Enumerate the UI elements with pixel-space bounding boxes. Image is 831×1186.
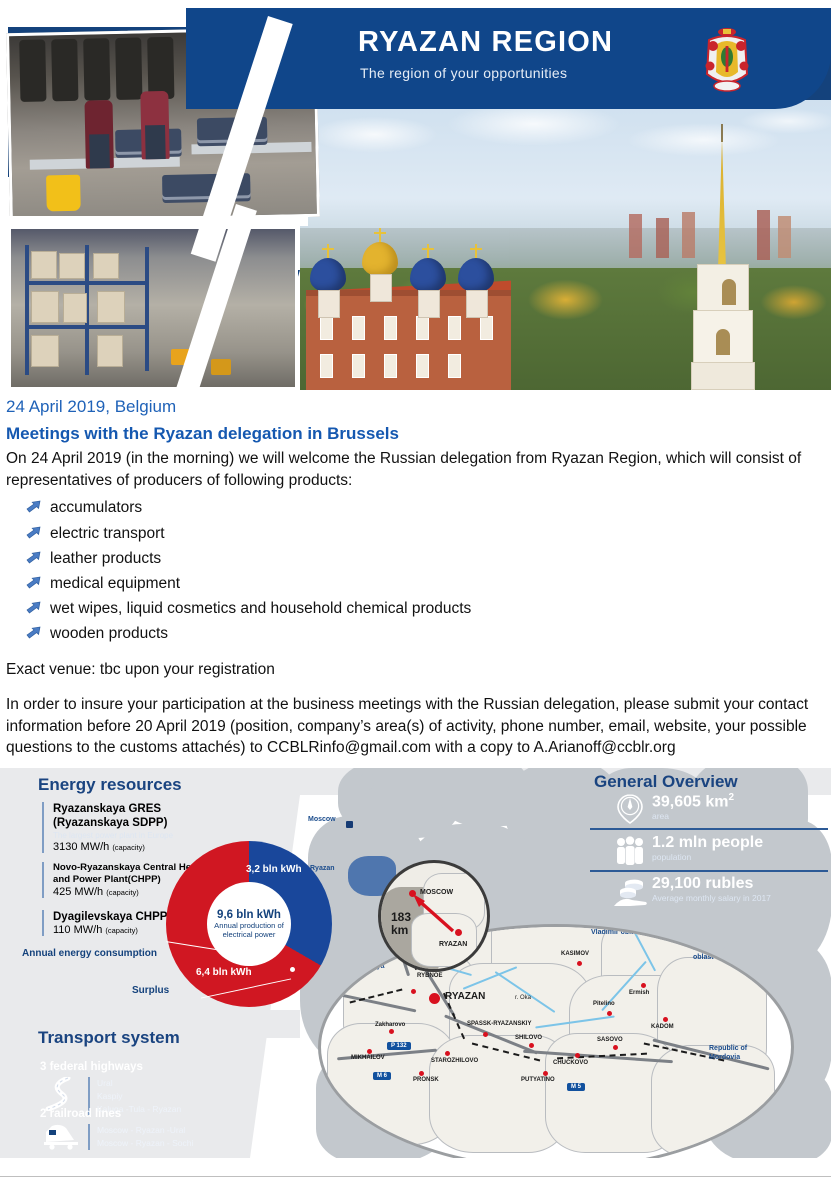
highway-1: Ural	[97, 1077, 181, 1090]
map-city-ermish: Ermish	[629, 990, 649, 996]
banner-title: RYAZAN REGION	[358, 26, 613, 59]
overview-area-sup: 2	[729, 792, 735, 803]
coat-of-arms-icon	[697, 24, 757, 96]
rail-list: Moscow - Ryazan -Ural Moscow - Ryazan - …	[88, 1124, 193, 1150]
road-shield-m5: M 5	[567, 1083, 585, 1091]
photo-bell-tower	[691, 140, 753, 390]
power-plant-3-capacity-value: 110 MW/h	[53, 924, 102, 936]
overview-row-population: 1.2 mln people population	[652, 835, 831, 862]
power-plant-3-capacity-unit: (capacity)	[105, 926, 138, 935]
map-city-kasimov: KASIMOV	[561, 951, 589, 957]
general-overview-heading: General Overview	[594, 772, 738, 792]
rail-title: 2 railroad lines	[40, 1108, 121, 1120]
donut-caption-consumption: Annual energy consumption	[22, 948, 157, 959]
article-intro-line-2: representatives of producers of followin…	[0, 470, 831, 492]
power-plant-1-name-1: Ryazanskaya GRES	[53, 802, 245, 816]
list-item-label: accumulators	[50, 499, 142, 516]
donut-label-consumption-value: 6,4 bln kWh	[196, 967, 252, 978]
donut-center-label: 9,6 bln kWh Annual production of electri…	[207, 882, 291, 966]
map-river-oka: r. Oka	[515, 995, 531, 1001]
map-label-ryazan: Ryazan	[310, 865, 335, 872]
closing-line-1: In order to insure your participation at…	[0, 694, 831, 716]
blue-arrow-bullet-icon	[26, 575, 43, 589]
road-shield-p132: P 132	[387, 1042, 411, 1050]
map-city-rybnoe: RYBNOE	[417, 973, 442, 979]
inset-distance: 183 km	[391, 911, 411, 936]
distance-arrow-icon	[411, 893, 457, 935]
map-label-vladimir-oblast: Vladimir oblast	[591, 929, 641, 938]
map-city-sasovo: SASOVO	[597, 1037, 623, 1043]
inset-dot-moscow	[409, 890, 416, 897]
list-item-label: electric transport	[50, 525, 165, 542]
photo-gap	[8, 216, 308, 226]
map-city-kadom: KADOM	[651, 1024, 674, 1030]
blue-arrow-bullet-icon	[26, 525, 43, 539]
leader-dot-consumption	[226, 942, 231, 947]
inset-distance-unit: km	[391, 923, 408, 937]
power-plant-1: Ryazanskaya GRES (Ryazanskaya SDPP) The …	[42, 802, 245, 853]
inset-dot-ryazan	[455, 929, 462, 936]
map-city-zakharovo: Zakharovo	[375, 1022, 405, 1028]
rail-2: Moscow - Ryazan - Sochi	[97, 1137, 193, 1150]
blue-arrow-bullet-icon	[26, 550, 43, 564]
article-kicker: 24 April 2019, Belgium	[0, 396, 831, 419]
list-item-label: medical equipment	[50, 575, 180, 592]
article-body: 24 April 2019, Belgium Meetings with the…	[0, 396, 831, 759]
road-shield-m6: M 6	[373, 1072, 391, 1080]
power-plant-1-capacity-value: 3130 MW/h	[53, 841, 109, 853]
list-item: electric transport	[26, 521, 831, 546]
list-item: wet wipes, liquid cosmetics and househol…	[26, 596, 831, 621]
location-pin-icon	[614, 793, 646, 825]
list-item: leather products	[26, 546, 831, 571]
map-city-mikhailov: MIKHAILOV	[351, 1055, 385, 1061]
overview-salary-value: 29,100 rubles	[652, 875, 753, 892]
map-city-pronsk: PRONSK	[413, 1077, 439, 1083]
photo-ryazan-kremlin	[300, 100, 831, 390]
closing-line-2: information before 20 April 2019 (positi…	[0, 716, 831, 738]
inset-label-ryazan: RYAZAN	[439, 941, 467, 948]
overview-population-caption: population	[652, 852, 831, 862]
blue-arrow-bullet-icon	[26, 625, 43, 639]
power-plant-1-capacity-unit: (capacity)	[112, 843, 145, 852]
map-label-nizhegorodskaya-oblast: Nizhegorodskaya oblast	[693, 945, 751, 963]
map-label-moscow: Moscow	[308, 816, 336, 823]
banner-subtitle: The region of your opportunities	[360, 65, 567, 81]
overview-salary-caption: Average monthly salary in 2017	[652, 893, 831, 903]
list-item: accumulators	[26, 495, 831, 520]
overview-row-area: 39,605 km2 area	[652, 793, 831, 821]
blue-arrow-bullet-icon	[26, 600, 43, 614]
list-item: medical equipment	[26, 571, 831, 596]
people-icon	[614, 835, 646, 867]
map-city-shilovo: SHILOVO	[515, 1035, 542, 1041]
map-city-spassk-ryazanskiy: SPASSK-RYAZANSKIY	[467, 1021, 531, 1027]
overview-area-caption: area	[652, 811, 831, 821]
donut-label-surplus-value: 3,2 bln kWh	[246, 864, 302, 875]
leader-dot-surplus	[290, 967, 295, 972]
map-city-putyatino: PUTYATINO	[521, 1077, 555, 1083]
highway-2: Kaspiy	[97, 1090, 181, 1103]
closing-line-3: questions to the customs attachés) to CC…	[0, 737, 831, 759]
photo-warehouse	[8, 226, 298, 390]
donut-total-value: 9,6 bln kWh	[217, 909, 281, 921]
transport-system-heading: Transport system	[38, 1028, 180, 1048]
moscow-ryazan-distance-inset: MOSCOW RYAZAN 183 km	[378, 860, 490, 972]
rail-1: Moscow - Ryazan -Ural	[97, 1124, 193, 1137]
overview-area-value: 39,605 km	[652, 793, 729, 810]
highways-title: 3 federal highways	[40, 1061, 143, 1073]
energy-resources-heading: Energy resources	[38, 775, 182, 795]
overview-row-salary: 29,100 rubles Average monthly salary in …	[652, 876, 831, 903]
map-city-chuckovo: CHUCKOVO	[553, 1060, 588, 1066]
photo-cathedral	[306, 240, 521, 390]
article-intro-line-1: On 24 April 2019 (in the morning) we wil…	[0, 448, 831, 470]
overview-divider-2	[590, 870, 828, 872]
map-label-moskovskaya-oblast: Moskovskaya oblast	[339, 963, 385, 981]
venue-note: Exact venue: tbc upon your registration	[0, 659, 831, 681]
donut-total-caption: Annual production of electrical power	[214, 921, 284, 940]
map-city-pitelino: Pitelino	[593, 1001, 615, 1007]
train-icon	[42, 1122, 82, 1150]
product-list: accumulators electric transport leather …	[0, 495, 831, 646]
power-plant-1-name-2: (Ryazanskaya SDPP)	[53, 816, 245, 830]
list-item-label: wet wipes, liquid cosmetics and househol…	[50, 600, 471, 617]
map-label-republic-of-mordovia: Republic of Mordovia	[709, 1045, 747, 1063]
article-headline: Meetings with the Ryazan delegation in B…	[0, 419, 831, 448]
overview-divider-1	[590, 828, 828, 830]
blue-arrow-bullet-icon	[26, 499, 43, 513]
hero-section: RYAZAN REGION The region of your opportu…	[0, 8, 831, 390]
footer-divider	[0, 1176, 831, 1177]
power-plant-2-capacity-value: 425 MW/h	[53, 886, 103, 898]
money-hand-icon	[612, 876, 650, 908]
highway-icon	[42, 1077, 80, 1111]
inset-label-moscow: MOSCOW	[420, 889, 453, 896]
list-item-label: wooden products	[50, 625, 168, 642]
power-plant-2-capacity-unit: (capacity)	[106, 888, 139, 897]
map-city-ryazan: RYAZAN	[445, 991, 485, 1002]
list-item-label: leather products	[50, 550, 161, 567]
overview-population-value: 1.2 mln people	[652, 834, 763, 851]
power-plant-1-note: The largest power plant in Europe	[53, 831, 245, 841]
map-city-starozhilovo: STAROZHILOVO	[431, 1058, 478, 1064]
list-item: wooden products	[26, 621, 831, 646]
donut-caption-surplus: Surplus	[132, 985, 169, 996]
